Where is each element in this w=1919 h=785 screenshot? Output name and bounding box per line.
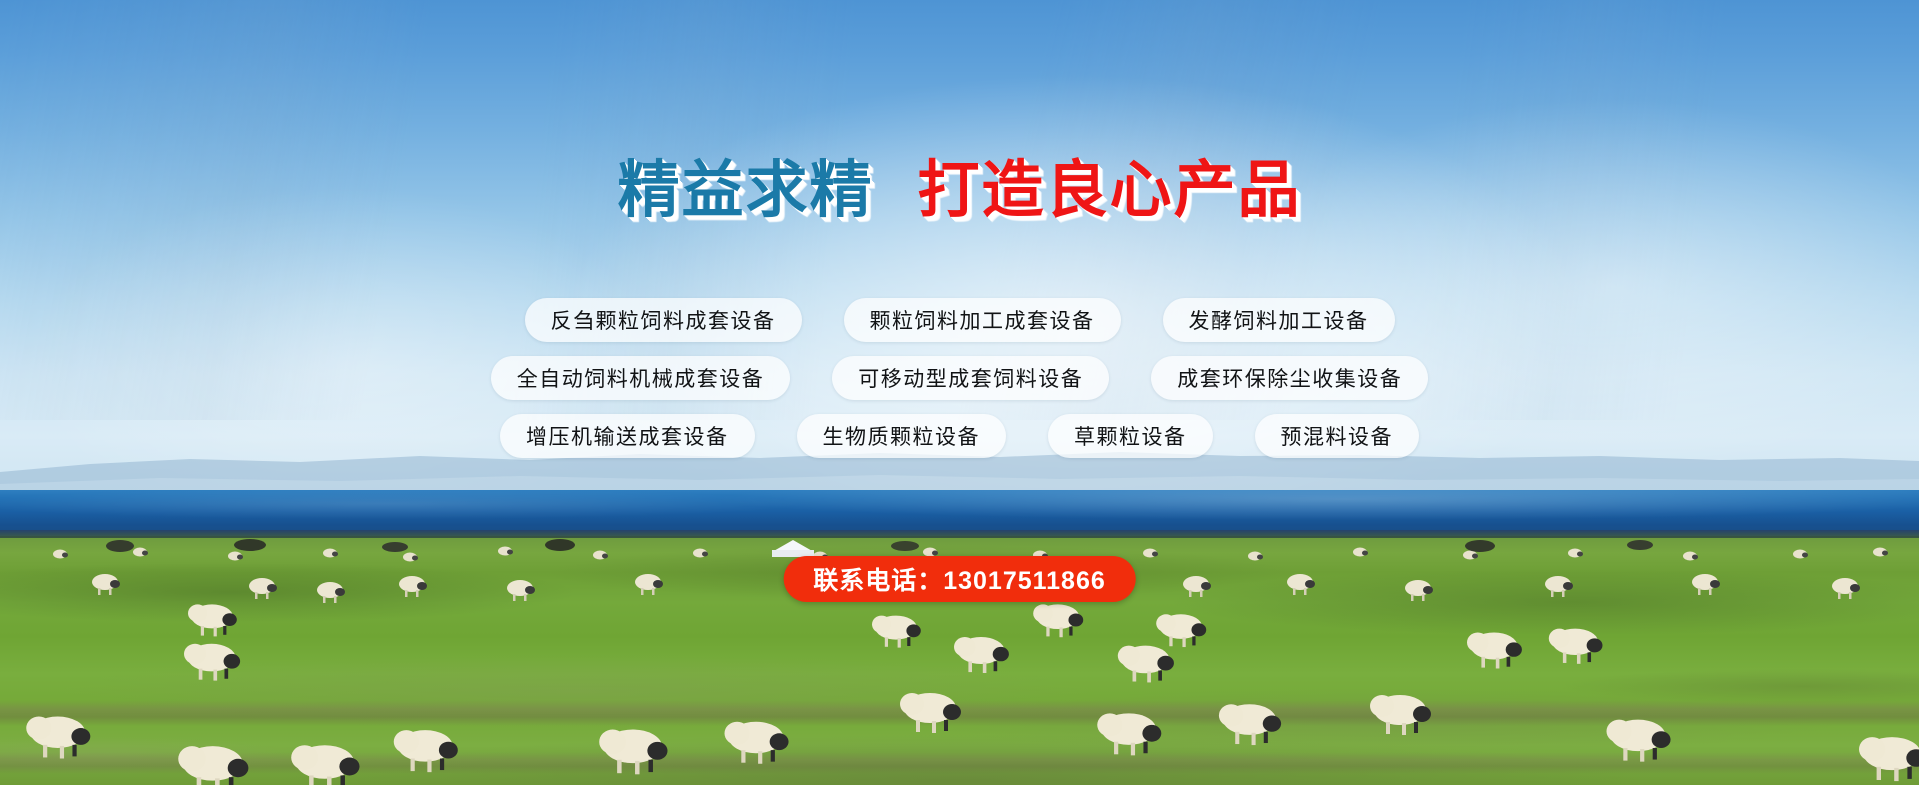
- pill-fermented-feed-equipment[interactable]: 发酵饲料加工设备: [1163, 298, 1395, 342]
- product-category-pills: 反刍颗粒饲料成套设备 颗粒饲料加工成套设备 发酵饲料加工设备 全自动饲料机械成套…: [0, 298, 1919, 472]
- headline-blue-text: 精益求精: [617, 160, 873, 222]
- pill-booster-conveying-line[interactable]: 增压机输送成套设备: [500, 414, 755, 458]
- headline-red-text: 打造良心产品: [918, 160, 1302, 222]
- pill-premix-equipment[interactable]: 预混料设备: [1255, 414, 1420, 458]
- pill-dust-collection-equipment[interactable]: 成套环保除尘收集设备: [1151, 356, 1428, 400]
- pill-row-1: 反刍颗粒饲料成套设备 颗粒饲料加工成套设备 发酵饲料加工设备: [0, 298, 1919, 342]
- pill-ruminant-pellet-feed-line[interactable]: 反刍颗粒饲料成套设备: [525, 298, 802, 342]
- pill-mobile-feed-equipment[interactable]: 可移动型成套饲料设备: [832, 356, 1109, 400]
- promo-banner: 精益求精打造良心产品 反刍颗粒饲料成套设备 颗粒饲料加工成套设备 发酵饲料加工设…: [0, 0, 1919, 785]
- headline: 精益求精打造良心产品: [0, 160, 1919, 222]
- contact-phone-button[interactable]: 联系电话：13017511866: [783, 556, 1136, 602]
- pill-pellet-feed-processing-line[interactable]: 颗粒饲料加工成套设备: [844, 298, 1121, 342]
- pill-automatic-feed-machinery-line[interactable]: 全自动饲料机械成套设备: [491, 356, 791, 400]
- pill-row-3: 增压机输送成套设备 生物质颗粒设备 草颗粒设备 预混料设备: [0, 414, 1919, 458]
- pill-grass-pellet-equipment[interactable]: 草颗粒设备: [1048, 414, 1213, 458]
- pill-row-2: 全自动饲料机械成套设备 可移动型成套饲料设备 成套环保除尘收集设备: [0, 356, 1919, 400]
- pill-biomass-pellet-equipment[interactable]: 生物质颗粒设备: [797, 414, 1007, 458]
